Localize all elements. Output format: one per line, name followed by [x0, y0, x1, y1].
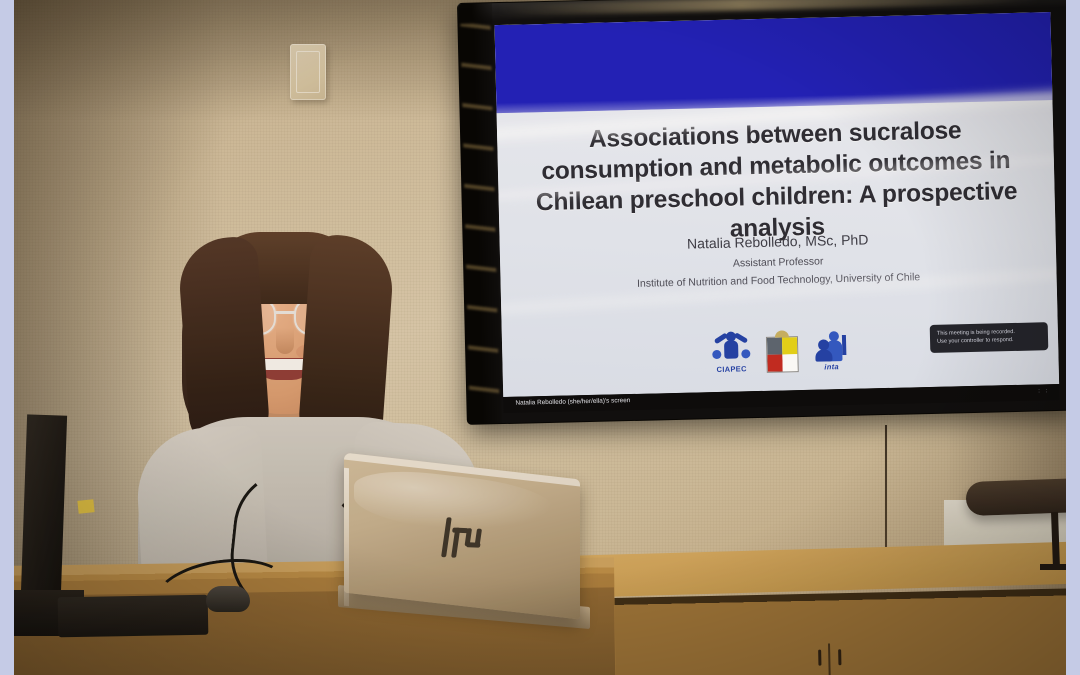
screen-share-icons: : :: [1038, 388, 1049, 394]
laptop-lid-side-edge: [344, 468, 349, 607]
cabinet-handle: [838, 649, 841, 665]
computer-mouse: [206, 586, 250, 612]
crest-shield-icon: [766, 336, 799, 373]
tv-display[interactable]: Associations between sucralose consumpti…: [458, 0, 1066, 424]
tv-screen: Associations between sucralose consumpti…: [495, 12, 1060, 397]
cabinet-doors: [612, 588, 1066, 675]
ciapec-logo: CIAPEC: [712, 329, 751, 374]
screen-share-label: Natalia Rebolledo (she/her/ella)'s scree…: [515, 397, 630, 407]
soundbar: [965, 478, 1066, 516]
eyeglass-bridge: [274, 311, 296, 314]
university-of-chile-crest: [766, 330, 799, 373]
left-border: [0, 0, 14, 675]
wall-plate: [290, 44, 326, 100]
photo-scene: Associations between sucralose consumpti…: [0, 0, 1080, 675]
inta-logo: inta: [814, 329, 849, 372]
monitor-rear: [21, 414, 67, 595]
inta-logo-label: inta: [815, 362, 849, 372]
ciapec-logo-label: CIAPEC: [713, 364, 751, 374]
hp-logo-icon: [439, 517, 488, 563]
cabinet-seam: [828, 643, 832, 675]
sticky-note: [77, 499, 94, 514]
equipment-stand-foot: [1040, 564, 1066, 570]
recording-notice-line2: Use your controller to respond.: [937, 336, 1041, 347]
inta-icon: [814, 329, 849, 362]
presentation-slide: Associations between sucralose consumpti…: [495, 12, 1060, 397]
right-border: [1066, 0, 1080, 675]
ciapec-icon: [712, 329, 751, 364]
conference-room-photo: Associations between sucralose consumpti…: [14, 0, 1066, 675]
cabinet-handle: [818, 650, 821, 666]
crest-crown-icon: [774, 330, 790, 337]
cabinet: [562, 556, 1066, 675]
slide-header-band: [495, 12, 1053, 113]
recording-notice: This meeting is being recorded. Use your…: [930, 322, 1049, 353]
laptop[interactable]: [344, 466, 588, 626]
